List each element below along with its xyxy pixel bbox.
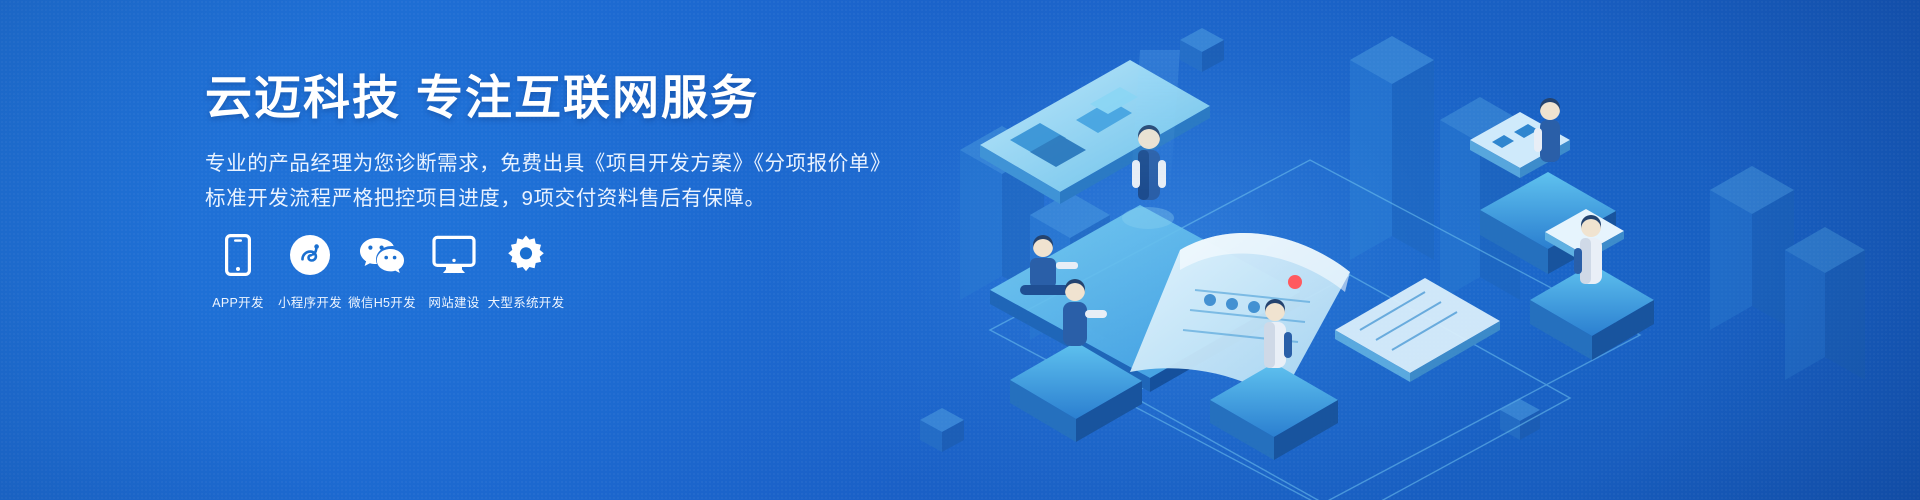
hero-banner: 云迈科技 专注互联网服务 专业的产品经理为您诊断需求，免费出具《项目开发方案》《…: [0, 0, 1920, 500]
service-list: APP开发 小程序开发: [202, 232, 562, 311]
banner-title: 云迈科技 专注互联网服务: [205, 72, 905, 124]
service-item-website[interactable]: 网站建设: [418, 232, 490, 311]
pedestal-bottom-right: [1210, 363, 1338, 460]
service-label: 大型系统开发: [488, 292, 565, 311]
wechat-icon: [358, 232, 406, 278]
illustration-container: [880, 0, 1920, 500]
service-label: 微信H5开发: [348, 292, 416, 311]
service-item-mini-program[interactable]: 小程序开发: [274, 232, 346, 311]
wide-data-panel: [1335, 278, 1500, 382]
gear-icon: [505, 232, 547, 278]
banner-copy: 云迈科技 专注互联网服务 专业的产品经理为您诊断需求，免费出具《项目开发方案》《…: [205, 72, 905, 217]
mini-program-icon: [289, 232, 331, 278]
isometric-illustration: [880, 0, 1920, 500]
subtitle-line-1: 专业的产品经理为您诊断需求，免费出具《项目开发方案》《分项报价单》: [205, 147, 905, 180]
service-label: APP开发: [212, 292, 264, 311]
mobile-phone-icon: [225, 232, 251, 278]
service-item-wechat-h5[interactable]: 微信H5开发: [346, 232, 418, 311]
monitor-icon: [432, 232, 476, 278]
service-item-app[interactable]: APP开发: [202, 232, 274, 311]
service-label: 小程序开发: [278, 292, 342, 311]
subtitle-line-2: 标准开发流程严格把控项目进度，9项交付资料售后有保障。: [205, 182, 905, 215]
banner-subtitle: 专业的产品经理为您诊断需求，免费出具《项目开发方案》《分项报价单》 标准开发流程…: [205, 147, 905, 215]
service-label: 网站建设: [428, 292, 479, 311]
service-item-large-system[interactable]: 大型系统开发: [490, 232, 562, 311]
